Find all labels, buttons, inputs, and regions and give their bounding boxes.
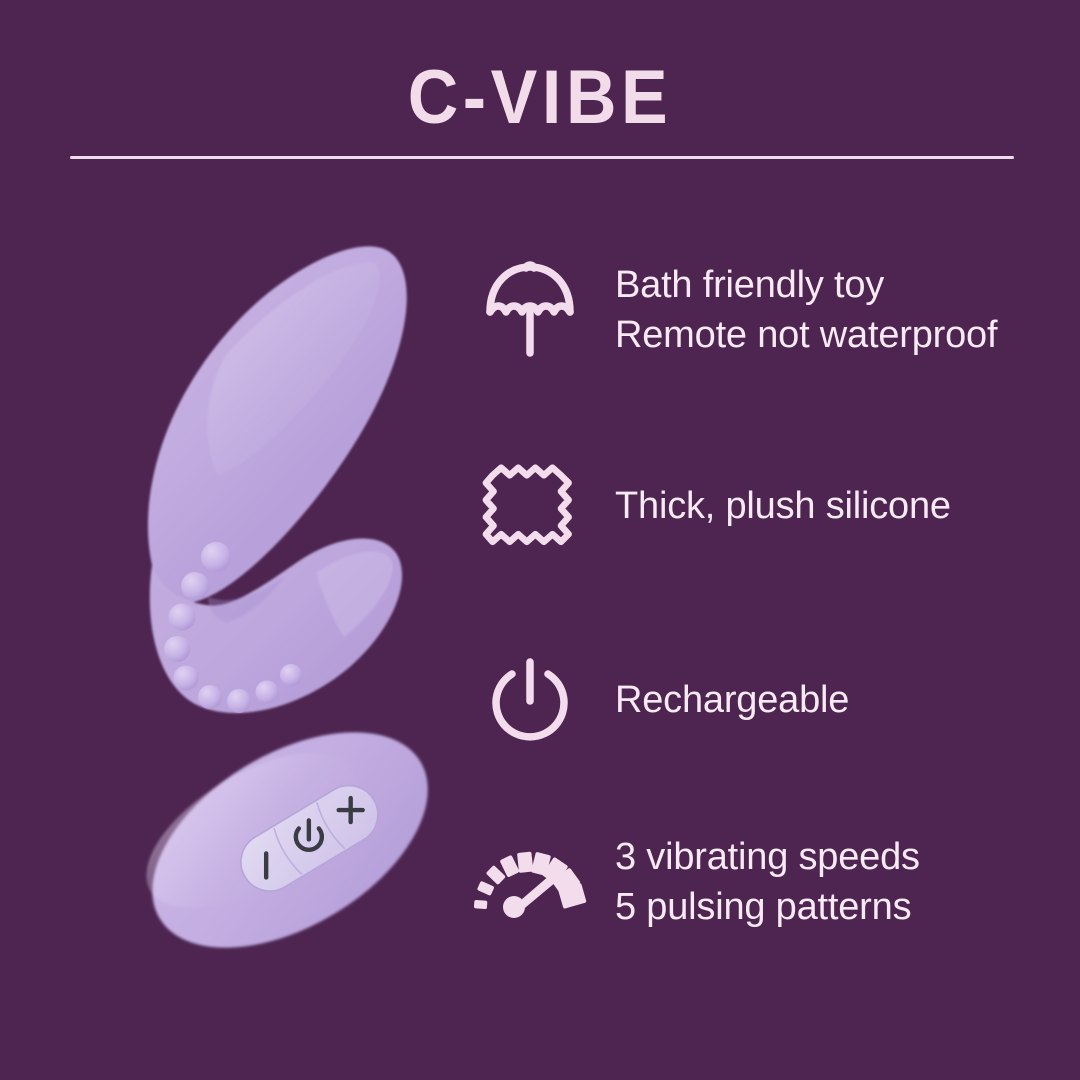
feature-line-1: Bath friendly toy bbox=[615, 264, 884, 306]
feature-text-rechargeable: Rechargeable bbox=[590, 675, 849, 725]
feature-text-silicone: Thick, plush silicone bbox=[590, 481, 951, 531]
silicone-swatch-icon bbox=[470, 446, 590, 566]
feature-line-2: 5 pulsing patterns bbox=[615, 882, 920, 932]
feature-text-speeds: 3 vibrating speeds 5 pulsing patterns bbox=[590, 832, 920, 932]
product-body-image bbox=[40, 205, 440, 725]
feature-item-rechargeable: Rechargeable bbox=[470, 640, 1050, 760]
feature-item-speeds: 3 vibrating speeds 5 pulsing patterns bbox=[470, 822, 1050, 942]
feature-line-1: Thick, plush silicone bbox=[615, 485, 951, 527]
feature-item-silicone: Thick, plush silicone bbox=[470, 446, 1050, 566]
feature-line-1: Rechargeable bbox=[615, 679, 849, 721]
power-icon bbox=[470, 640, 590, 760]
speed-gauge-icon bbox=[470, 822, 590, 942]
feature-text-bath-friendly: Bath friendly toy Remote not waterproof bbox=[590, 260, 997, 360]
remote-control-image bbox=[130, 690, 450, 990]
product-infographic: C-VIBE bbox=[0, 0, 1080, 1080]
feature-item-bath-friendly: Bath friendly toy Remote not waterproof bbox=[470, 250, 1050, 370]
feature-line-1: 3 vibrating speeds bbox=[615, 836, 920, 878]
feature-line-2: Remote not waterproof bbox=[615, 310, 997, 360]
umbrella-icon bbox=[470, 250, 590, 370]
product-image-area bbox=[0, 0, 470, 1080]
